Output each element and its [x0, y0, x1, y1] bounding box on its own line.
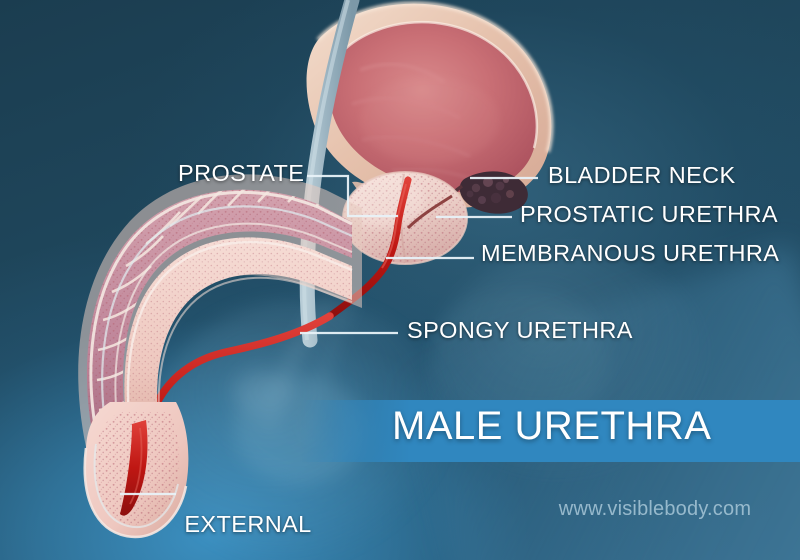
- anatomical-figure: [0, 0, 800, 560]
- label-external-line-1: EXTERNAL: [173, 511, 323, 537]
- watermark-url: www.visiblebody.com: [520, 498, 790, 521]
- label-prostate: PROSTATE: [178, 160, 304, 186]
- label-membranous-urethra: MEMBRANOUS URETHRA: [481, 240, 779, 266]
- figure-title: MALE URETHRA: [392, 404, 792, 449]
- label-prostatic-urethra: PROSTATIC URETHRA: [520, 201, 778, 227]
- label-bladder-neck: BLADDER NECK: [548, 162, 736, 188]
- label-external-urethral-orifice: EXTERNAL URETHRAL ORIFICE: [173, 458, 323, 560]
- label-spongy-urethra: SPONGY URETHRA: [407, 317, 633, 343]
- anatomy-illustration: PROSTATE BLADDER NECK PROSTATIC URETHRA …: [0, 0, 800, 560]
